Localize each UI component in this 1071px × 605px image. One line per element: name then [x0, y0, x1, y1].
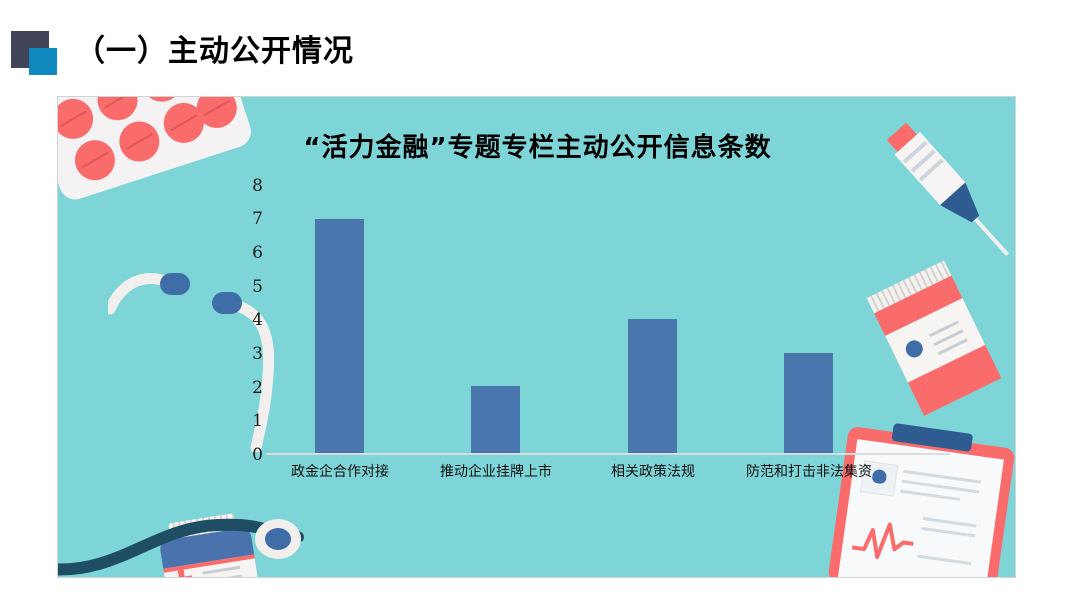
bar[interactable] [628, 319, 677, 453]
bar[interactable] [471, 386, 520, 453]
decorative-square-blue-icon [29, 48, 57, 75]
bar[interactable] [784, 353, 833, 453]
slide-header: （一）主动公开情况 [0, 0, 1071, 96]
plot-area: 8 7 6 5 4 3 2 1 0 政金企合作对接 推动企业挂牌上市 相关政策法… [58, 97, 1016, 578]
bars-layer [58, 97, 1016, 453]
x-axis-tick: 防范和打击非法集资 [731, 461, 887, 481]
x-axis-line [266, 453, 950, 455]
bar[interactable] [315, 219, 364, 453]
x-axis-tick: 政金企合作对接 [262, 461, 418, 481]
page-title: （一）主动公开情况 [75, 26, 354, 70]
chart-panel: “活力金融”专题专栏主动公开信息条数 8 7 6 5 4 3 2 1 0 政金企… [57, 96, 1016, 578]
x-axis-tick: 推动企业挂牌上市 [418, 461, 574, 481]
x-axis-tick: 相关政策法规 [575, 461, 731, 481]
